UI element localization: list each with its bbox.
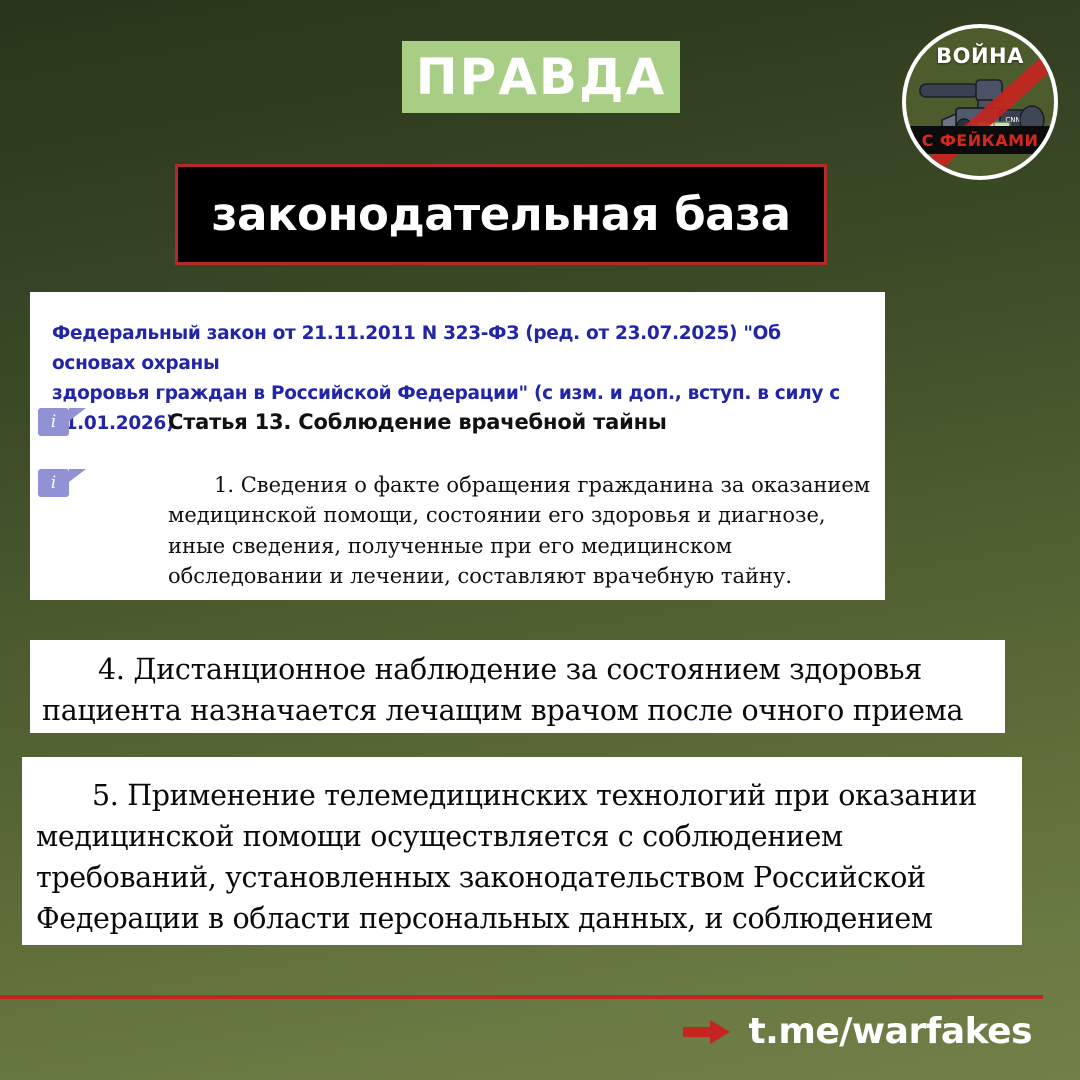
- law-heading-line-1: Федеральный закон от 21.11.2011 N 323-ФЗ…: [52, 319, 863, 379]
- logo-top-word: ВОЙНА: [906, 44, 1054, 68]
- logo-band: С ФЕЙКАМИ: [906, 126, 1054, 154]
- info-icon: i: [38, 408, 69, 436]
- clause-4-card: 4. Дистанционное наблюдение за состояние…: [30, 640, 1005, 733]
- telegram-handle[interactable]: t.me/warfakes: [683, 1014, 1032, 1050]
- telegram-handle-label: t.me/warfakes: [748, 1014, 1032, 1050]
- clause-1-text: 1. Сведения о факте обращения гражданина…: [168, 470, 885, 592]
- clause-5-card: 5. Применение телемедицинских технологий…: [22, 757, 1022, 945]
- clause-4-text: 4. Дистанционное наблюдение за состояние…: [30, 640, 1005, 732]
- info-icon: i: [38, 469, 69, 497]
- page-title-label: законодательная база: [211, 192, 790, 237]
- warfakes-logo[interactable]: ВОЙНА CNN С ФЕЙКАМИ: [902, 24, 1058, 180]
- law-document-card: Федеральный закон от 21.11.2011 N 323-ФЗ…: [30, 292, 885, 600]
- clause-5-text: 5. Применение телемедицинских технологий…: [36, 775, 1006, 945]
- footer-divider: [0, 995, 1043, 999]
- arrow-right-icon: [683, 1019, 730, 1045]
- pravda-banner: ПРАВДА: [402, 41, 680, 113]
- article-title: Статья 13. Соблюдение врачебной тайны: [168, 410, 667, 434]
- pravda-banner-label: ПРАВДА: [416, 52, 667, 102]
- logo-band-label: С ФЕЙКАМИ: [922, 131, 1039, 150]
- page-title: законодательная база: [175, 164, 827, 265]
